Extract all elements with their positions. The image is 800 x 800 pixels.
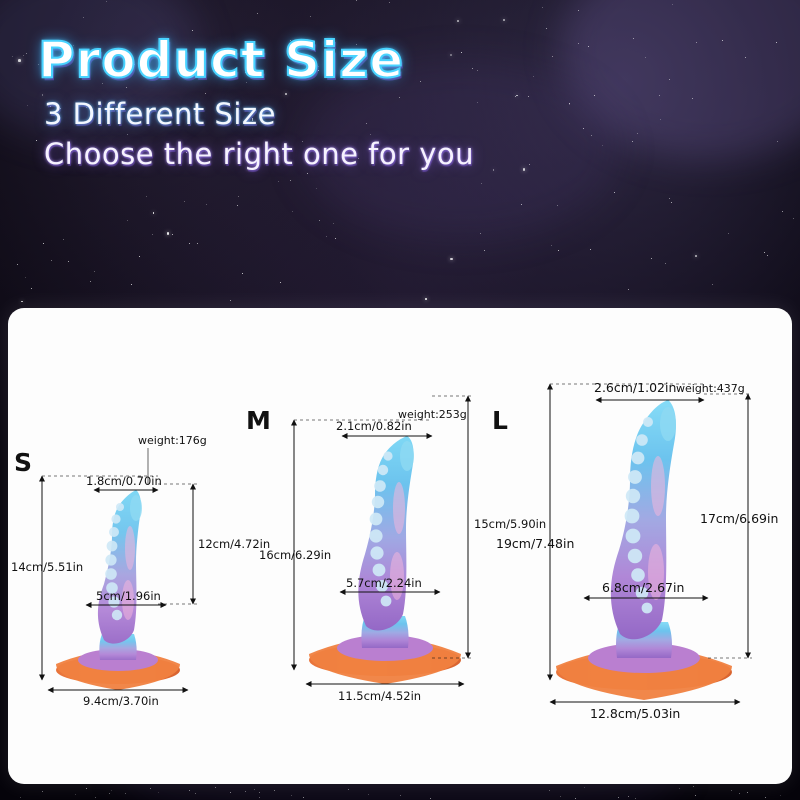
base-width-m: 11.5cm/4.52in xyxy=(338,689,421,703)
total-height-m: 16cm/6.29in xyxy=(259,548,331,562)
subtitle-secondary: Choose the right one for you xyxy=(44,137,738,171)
size-letter-l: L xyxy=(492,406,508,435)
product-figure-l xyxy=(550,384,752,702)
top-width-l: 2.6cm/1.02in xyxy=(594,380,676,395)
body-height-m: 15cm/5.90in xyxy=(474,517,546,531)
size-chart-panel: S weight:176g 1.8cm/0.70in 5cm/1.96in 9.… xyxy=(8,308,792,784)
mid-width-l: 6.8cm/2.67in xyxy=(602,580,684,595)
subtitle-primary: 3 Different Size xyxy=(44,97,738,131)
top-width-m: 2.1cm/0.82in xyxy=(336,419,412,433)
size-letter-s: S xyxy=(14,448,32,477)
poster-canvas: Product Size 3 Different Size Choose the… xyxy=(0,0,800,800)
body-height-l: 17cm/6.69in xyxy=(700,511,778,526)
total-height-l: 19cm/7.48in xyxy=(496,536,574,551)
header-block: Product Size 3 Different Size Choose the… xyxy=(38,34,738,171)
total-height-s: 14cm/5.51in xyxy=(11,560,83,574)
base-width-s: 9.4cm/3.70in xyxy=(83,694,159,708)
top-width-s: 1.8cm/0.70in xyxy=(86,474,162,488)
base-width-l: 12.8cm/5.03in xyxy=(590,706,680,721)
page-title: Product Size xyxy=(38,34,738,87)
mid-width-s: 5cm/1.96in xyxy=(96,589,161,603)
size-letter-m: M xyxy=(246,406,271,435)
weight-label-l: weight:437g xyxy=(676,382,745,395)
product-figure-m xyxy=(294,396,472,684)
mid-width-m: 5.7cm/2.24in xyxy=(346,576,422,590)
weight-label-s: weight:176g xyxy=(138,434,207,447)
